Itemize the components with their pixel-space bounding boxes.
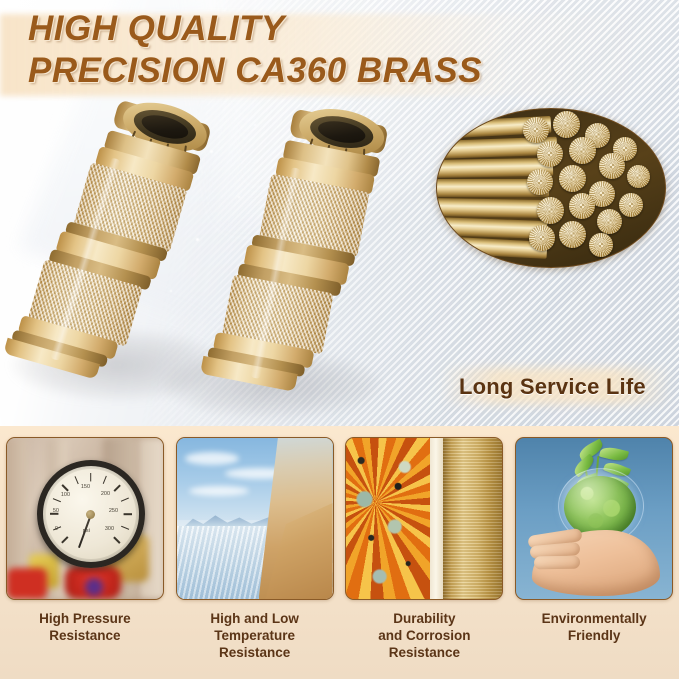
hero-title: HIGH QUALITY PRECISION CA360 BRASS bbox=[28, 8, 648, 92]
gauge-number: 300 bbox=[105, 526, 114, 532]
feature-label: High and Low Temperature Resistance bbox=[175, 610, 335, 661]
feature-strip: 0 50 100 150 200 250 300 psi High Pressu… bbox=[0, 426, 679, 679]
hero-section: HIGH QUALITY PRECISION CA360 BRASS bbox=[0, 0, 679, 426]
gauge-number: 250 bbox=[109, 508, 118, 514]
feature-label: High Pressure Resistance bbox=[5, 610, 165, 644]
feature-item-environmentally-friendly: Environmentally Friendly bbox=[509, 426, 679, 679]
feature-label: Durability and Corrosion Resistance bbox=[344, 610, 504, 661]
tagline: Long Service Life bbox=[459, 374, 646, 400]
pressure-gauge-image: 0 50 100 150 200 250 300 psi bbox=[6, 437, 164, 600]
snow-desert-image bbox=[176, 437, 334, 600]
gauge-number: 50 bbox=[53, 508, 59, 514]
gauge-number: 100 bbox=[61, 492, 70, 498]
feature-label: Environmentally Friendly bbox=[514, 610, 674, 644]
feature-item-durability-and-corrosion-resistance: Durability and Corrosion Resistance bbox=[340, 426, 510, 679]
feature-item-high-and-low-temperature-resistance: High and Low Temperature Resistance bbox=[170, 426, 340, 679]
gauge-hub bbox=[86, 510, 95, 519]
gauge-number: 200 bbox=[101, 491, 110, 497]
title-line-1: HIGH QUALITY bbox=[28, 8, 648, 50]
title-line-2: PRECISION CA360 BRASS bbox=[28, 50, 648, 92]
eco-globe-image bbox=[515, 437, 673, 600]
brass-rod-stock-inset bbox=[436, 108, 666, 268]
gauge-number: 150 bbox=[81, 484, 90, 490]
gauge-dial: 0 50 100 150 200 250 300 psi bbox=[37, 460, 145, 568]
product-infographic: HIGH QUALITY PRECISION CA360 BRASS bbox=[0, 0, 679, 679]
feature-item-high-pressure-resistance: 0 50 100 150 200 250 300 psi High Pressu… bbox=[0, 426, 170, 679]
corrosion-vs-brass-image bbox=[345, 437, 503, 600]
gauge-number: 0 bbox=[55, 526, 58, 532]
